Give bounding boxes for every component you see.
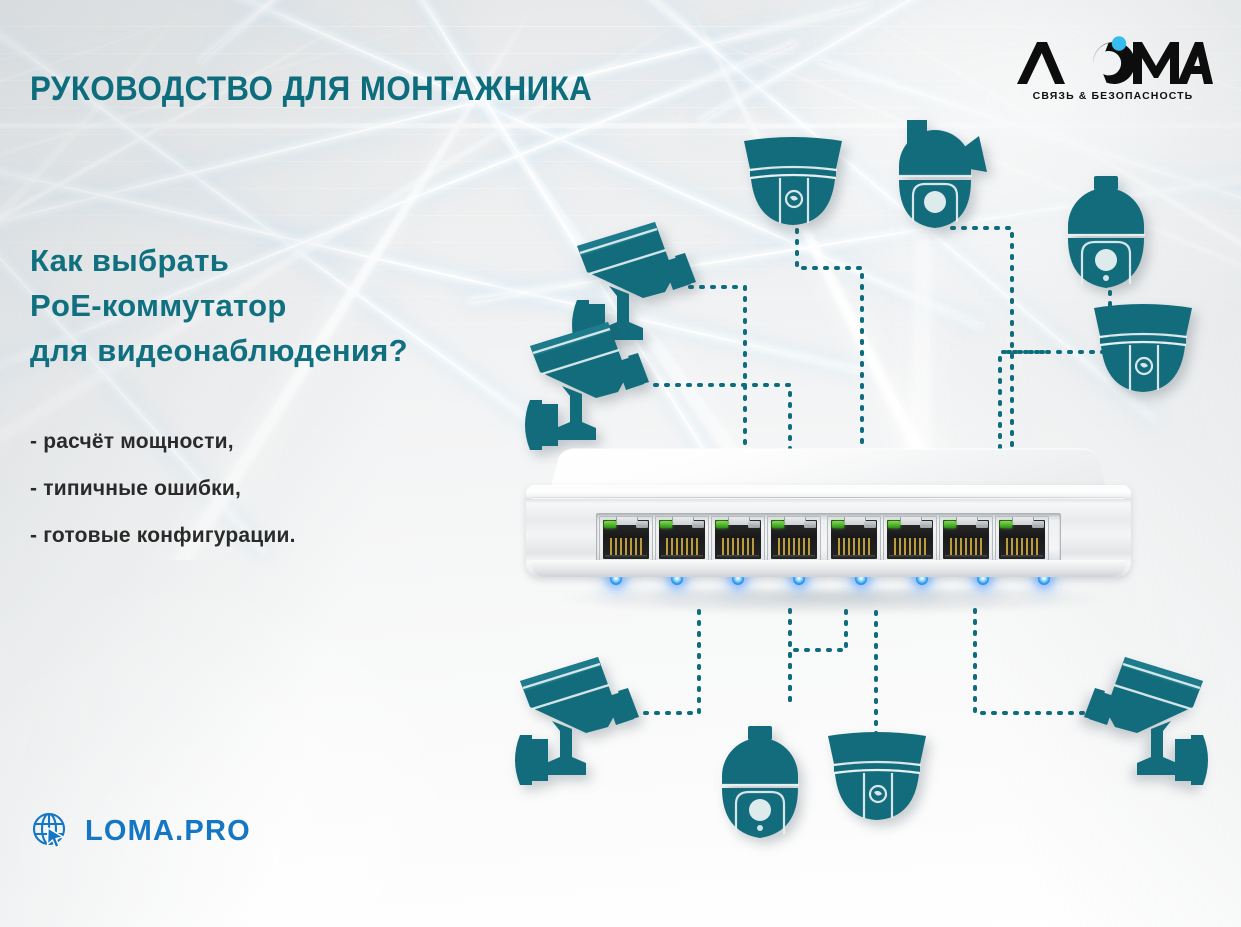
rj45-port[interactable] [883,516,937,562]
device-shadow [557,589,1106,615]
rj45-port[interactable] [711,516,765,562]
cam-dome-top-center [738,135,848,227]
link-path [975,606,1083,713]
link-path [645,606,699,713]
port-led-gray [976,521,988,528]
cam-dome-bottom-center [822,730,932,822]
port-group-left [599,516,821,562]
footer[interactable]: LOMA.PRO [30,810,251,852]
device-base-rim [531,560,1126,577]
port-led-gray [864,521,876,528]
cam-ptz-top-right [1058,174,1156,292]
port-led-gray [636,521,648,528]
cam-ptz-arm-top [891,114,1009,232]
device-front-panel [526,485,1131,577]
bullet-camera-icon [1075,635,1241,810]
globe-cursor-icon [30,810,72,852]
port-led-green [660,521,672,528]
rj45-port[interactable] [939,516,993,562]
cam-bullet-bottom-left [468,635,648,810]
rj45-port[interactable] [767,516,821,562]
dome-camera-icon [738,135,848,227]
cam-dome-mid-right [1088,302,1198,394]
port-led-green [832,521,844,528]
cam-ptz-bottom-center [712,724,810,842]
cam-bullet-bottom-right [1075,635,1241,810]
port-led-green [772,521,784,528]
port-group-right [827,516,1049,562]
port-led-gray [804,521,816,528]
port-led-green [944,521,956,528]
poe-switch-device [521,433,1136,603]
port-led-green [716,521,728,528]
bullet-camera-icon [468,635,648,810]
port-led-gray [748,521,760,528]
port-led-green [1000,521,1012,528]
rj45-port[interactable] [655,516,709,562]
port-led-gray [692,521,704,528]
port-led-green [604,521,616,528]
rj45-port[interactable] [995,516,1049,562]
link-path [790,606,846,700]
dome-camera-icon [1088,302,1198,394]
device-seam [532,497,1125,499]
port-bay [596,513,1061,565]
ptz-camera-icon [1058,174,1156,292]
rj45-port[interactable] [827,516,881,562]
port-led-gray [1032,521,1044,528]
ptz-camera-icon [712,724,810,842]
rj45-port[interactable] [599,516,653,562]
footer-site-label: LOMA.PRO [85,815,251,848]
poster-root: СВЯЗЬ & БЕЗОПАСНОСТЬ РУКОВОДСТВО ДЛЯ МОН… [0,0,1241,927]
dome-camera-icon [822,730,932,822]
port-led-green [888,521,900,528]
ptz-camera-arm-icon [891,114,1009,232]
port-led-gray [920,521,932,528]
